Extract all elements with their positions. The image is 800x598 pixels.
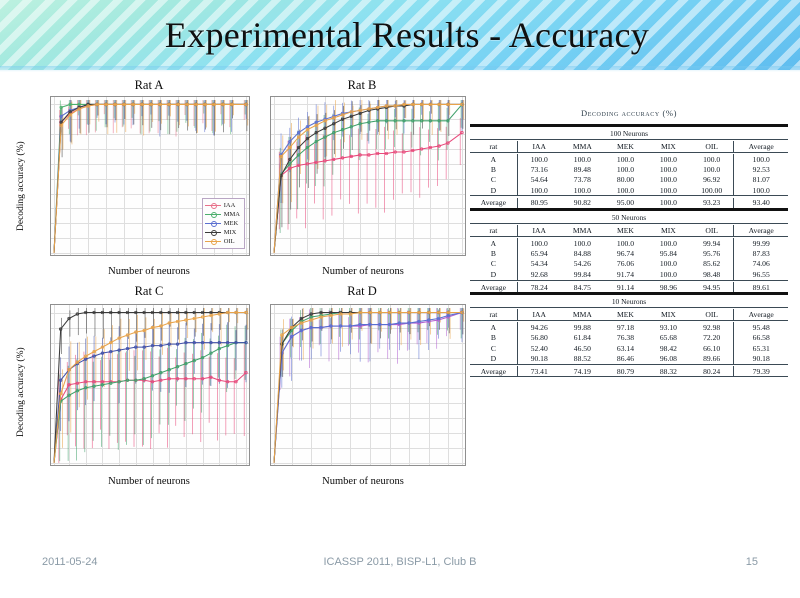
table-cell: 94.95 xyxy=(690,282,734,294)
table-cell: 98.42 xyxy=(647,343,690,353)
table-cell: 74.19 xyxy=(561,366,604,377)
legend-label: MIX xyxy=(224,229,237,237)
group-label: 50 Neurons xyxy=(470,213,788,224)
column-header: MEK xyxy=(604,309,647,320)
table-cell: 100.0 xyxy=(647,185,690,196)
table-group-header: 100 Neurons xyxy=(470,128,788,139)
table-cell: 100.0 xyxy=(647,198,690,210)
plot-area-rat-c: 0102030405060708090100110203040506070809… xyxy=(50,304,250,466)
chart-ylabel-rat-c: Decoding accuracy (%) xyxy=(14,322,28,462)
table-cell: 100.0 xyxy=(647,164,690,174)
legend-swatch-icon xyxy=(205,229,221,236)
table-cell: 65.31 xyxy=(734,343,788,353)
table-header-row: ratIAAMMAMEKMIXOILAverage xyxy=(470,141,788,152)
table-cell: 63.14 xyxy=(604,343,647,353)
table-cell: 54.64 xyxy=(517,175,560,185)
table-cell: 80.00 xyxy=(604,175,647,185)
chart-ylabel-rat-a: Decoding accuracy (%) xyxy=(14,116,28,256)
table-caption: Decoding accuracy (%) xyxy=(470,108,788,118)
table-cell: 54.26 xyxy=(561,259,604,269)
table-cell: 88.32 xyxy=(647,366,690,377)
table-cell: 100.00 xyxy=(690,185,734,196)
table-row: B73.1689.48100.0100.0100.092.53 xyxy=(470,164,788,174)
table-cell: 93.23 xyxy=(690,198,734,210)
column-header: Average xyxy=(734,225,788,236)
table-average-row: Average73.4174.1980.7988.3280.2479.39 xyxy=(470,366,788,377)
table-cell: 76.38 xyxy=(604,333,647,343)
error-bars xyxy=(283,100,464,203)
column-header: MEK xyxy=(604,141,647,152)
chart-title-rat-b: Rat B xyxy=(256,78,468,93)
table-cell: 100.0 xyxy=(517,238,560,248)
table-cell: 100.0 xyxy=(604,154,647,164)
table-cell: 73.78 xyxy=(561,175,604,185)
table-cell: 99.88 xyxy=(561,322,604,332)
chart-xlabel-rat-a: Number of neurons xyxy=(16,266,256,277)
table-cell: 98.48 xyxy=(690,269,734,280)
legend-swatch-icon xyxy=(205,238,221,245)
table-cell: 93.40 xyxy=(734,198,788,210)
column-header: MMA xyxy=(561,225,604,236)
table-cell: 66.58 xyxy=(734,333,788,343)
chart-xlabel-rat-b: Number of neurons xyxy=(256,266,468,277)
charts-region: Rat A Decoding accuracy (%) 010203040506… xyxy=(16,78,468,498)
legend-item-mma: MMA xyxy=(205,210,240,219)
table-cell: 100.0 xyxy=(647,175,690,185)
column-header: IAA xyxy=(517,225,560,236)
table-cell: 46.50 xyxy=(561,343,604,353)
table-cell: D xyxy=(470,269,517,280)
table-average-row: Average80.9590.8295.00100.093.2393.40 xyxy=(470,198,788,210)
page-title: Experimental Results - Accuracy xyxy=(0,0,800,70)
column-header: Average xyxy=(734,141,788,152)
chart-rat-b: Rat B 0102030405060708090100110203040506… xyxy=(256,78,468,284)
table-cell: 85.62 xyxy=(690,259,734,269)
legend-item-oil: OIL xyxy=(205,237,240,246)
table-row: C54.3454.2676.06100.085.6274.06 xyxy=(470,259,788,269)
table-header-row: ratIAAMMAMEKMIXOILAverage xyxy=(470,309,788,320)
table-cell: 81.07 xyxy=(734,175,788,185)
table-cell: 89.61 xyxy=(734,282,788,294)
chart-title-rat-d: Rat D xyxy=(256,284,468,299)
table-cell: 52.40 xyxy=(517,343,560,353)
plot-svg xyxy=(51,305,249,465)
table-cell: 91.74 xyxy=(604,269,647,280)
table-cell: 100.0 xyxy=(517,154,560,164)
table-cell: 92.53 xyxy=(734,164,788,174)
table-cell: 100.0 xyxy=(604,238,647,248)
table-cell: 90.82 xyxy=(561,198,604,210)
legend-item-iaa: IAA xyxy=(205,201,240,210)
chart-rat-c: Rat C Decoding accuracy (%) 010203040506… xyxy=(16,284,256,496)
table-cell: 80.24 xyxy=(690,366,734,377)
column-header: IAA xyxy=(517,309,560,320)
legend-item-mix: MIX xyxy=(205,228,240,237)
table-cell: A xyxy=(470,238,517,248)
table-cell: 88.52 xyxy=(561,353,604,364)
table-header-row: ratIAAMMAMEKMIXOILAverage xyxy=(470,225,788,236)
table-group-header: 50 Neurons xyxy=(470,213,788,224)
table-cell: 99.84 xyxy=(561,269,604,280)
column-header: OIL xyxy=(690,309,734,320)
table-cell: 86.46 xyxy=(604,353,647,364)
table-cell: 100.0 xyxy=(690,154,734,164)
plot-area-rat-d: 0102030405060708090100110203040506070809… xyxy=(270,304,466,466)
table-row: D90.1888.5286.4696.0889.6690.18 xyxy=(470,353,788,364)
plot-svg xyxy=(271,97,465,255)
table-cell: A xyxy=(470,154,517,164)
table-row: C52.4046.5063.1498.4266.1065.31 xyxy=(470,343,788,353)
table-cell: 92.68 xyxy=(517,269,560,280)
chart-xlabel-rat-c: Number of neurons xyxy=(16,476,256,487)
table-cell: 90.18 xyxy=(734,353,788,364)
chart-title-rat-a: Rat A xyxy=(16,78,256,93)
legend-swatch-icon xyxy=(205,211,221,218)
column-header: rat xyxy=(470,141,517,152)
table-cell: 100.0 xyxy=(561,185,604,196)
banner-divider xyxy=(0,66,800,72)
table-cell: 100.0 xyxy=(647,269,690,280)
table-cell: 65.68 xyxy=(647,333,690,343)
table-cell: 95.76 xyxy=(690,248,734,258)
table-row: D92.6899.8491.74100.098.4896.55 xyxy=(470,269,788,280)
legend-label: OIL xyxy=(224,238,235,246)
table-cell: B xyxy=(470,248,517,258)
table-cell: 84.75 xyxy=(561,282,604,294)
table-cell: 100.0 xyxy=(690,164,734,174)
legend-swatch-icon xyxy=(205,202,221,209)
table-row: A100.0100.0100.0100.0100.0100.0 xyxy=(470,154,788,164)
decoding-accuracy-table: 100 NeuronsratIAAMMAMEKMIXOILAverageA100… xyxy=(470,124,788,379)
column-header: MMA xyxy=(561,309,604,320)
table-cell: 73.16 xyxy=(517,164,560,174)
table-cell: 92.98 xyxy=(690,322,734,332)
column-header: MIX xyxy=(647,309,690,320)
table-cell: C xyxy=(470,175,517,185)
group-label: 10 Neurons xyxy=(470,297,788,308)
chart-legend: IAAMMAMEKMIXOIL xyxy=(202,198,245,249)
error-bars xyxy=(63,100,248,150)
table-cell: 100.0 xyxy=(604,164,647,174)
table-cell: 79.39 xyxy=(734,366,788,377)
chart-xlabel-rat-d: Number of neurons xyxy=(256,476,468,487)
table-cell: C xyxy=(470,259,517,269)
table-cell: 99.94 xyxy=(690,238,734,248)
table-rule xyxy=(470,377,788,379)
table-cell: 93.10 xyxy=(647,322,690,332)
table-cell: 87.83 xyxy=(734,248,788,258)
chart-rat-d: Rat D 0102030405060708090100110203040506… xyxy=(256,284,468,496)
table-cell: 91.14 xyxy=(604,282,647,294)
table-cell: 54.34 xyxy=(517,259,560,269)
table-cell: 100.0 xyxy=(561,238,604,248)
table-cell: 100.0 xyxy=(561,154,604,164)
legend-label: MEK xyxy=(224,220,238,228)
column-header: MIX xyxy=(647,141,690,152)
slide-footer: 2011-05-24 ICASSP 2011, BISP-L1, Club B … xyxy=(0,556,800,580)
chart-title-rat-c: Rat C xyxy=(16,284,256,299)
table-cell: 61.84 xyxy=(561,333,604,343)
table-cell: Average xyxy=(470,198,517,210)
table-cell: 56.80 xyxy=(517,333,560,343)
table-cell: Average xyxy=(470,366,517,377)
legend-swatch-icon xyxy=(205,220,221,227)
plot-area-rat-a: 0102030405060708090100110203040506070809… xyxy=(50,96,250,256)
table-cell: 100.0 xyxy=(647,154,690,164)
table-cell: A xyxy=(470,322,517,332)
table-cell: 96.08 xyxy=(647,353,690,364)
table-cell: 66.10 xyxy=(690,343,734,353)
table-cell: C xyxy=(470,343,517,353)
table-group-header: 10 Neurons xyxy=(470,297,788,308)
table-cell: 100.0 xyxy=(647,259,690,269)
chart-rat-a: Rat A Decoding accuracy (%) 010203040506… xyxy=(16,78,256,284)
table-row: B65.9484.8896.7495.8495.7687.83 xyxy=(470,248,788,258)
table-cell: D xyxy=(470,353,517,364)
table-cell: 95.00 xyxy=(604,198,647,210)
table-body: 100 NeuronsratIAAMMAMEKMIXOILAverageA100… xyxy=(470,126,788,379)
table-cell: 65.94 xyxy=(517,248,560,258)
decoding-accuracy-table-panel: Decoding accuracy (%) 100 NeuronsratIAAM… xyxy=(470,108,788,379)
footer-conference: ICASSP 2011, BISP-L1, Club B xyxy=(0,556,800,568)
table-cell: 96.74 xyxy=(604,248,647,258)
table-cell: 100.0 xyxy=(604,185,647,196)
column-header: IAA xyxy=(517,141,560,152)
table-cell: 80.95 xyxy=(517,198,560,210)
table-cell: 98.96 xyxy=(647,282,690,294)
slide-title-banner: Experimental Results - Accuracy xyxy=(0,0,800,70)
table-cell: 96.92 xyxy=(690,175,734,185)
table-cell: 89.48 xyxy=(561,164,604,174)
table-cell: 95.48 xyxy=(734,322,788,332)
series-line-iaa xyxy=(274,133,462,253)
column-header: OIL xyxy=(690,141,734,152)
footer-page-number: 15 xyxy=(746,556,758,568)
column-header: MEK xyxy=(604,225,647,236)
plot-area-rat-b: 0102030405060708090100110203040506070809… xyxy=(270,96,466,256)
table-cell: 72.20 xyxy=(690,333,734,343)
table-cell: Average xyxy=(470,282,517,294)
table-row: D100.0100.0100.0100.0100.00100.0 xyxy=(470,185,788,196)
table-cell: 84.88 xyxy=(561,248,604,258)
table-cell: D xyxy=(470,185,517,196)
column-header: MIX xyxy=(647,225,690,236)
table-cell: 74.06 xyxy=(734,259,788,269)
table-cell: 95.84 xyxy=(647,248,690,258)
table-row: A100.0100.0100.0100.099.9499.99 xyxy=(470,238,788,248)
table-cell: B xyxy=(470,164,517,174)
column-header: OIL xyxy=(690,225,734,236)
column-header: MMA xyxy=(561,141,604,152)
table-cell: 100.0 xyxy=(734,154,788,164)
legend-label: IAA xyxy=(224,202,236,210)
table-row: B56.8061.8476.3865.6872.2066.58 xyxy=(470,333,788,343)
table-cell: 94.26 xyxy=(517,322,560,332)
table-cell: 73.41 xyxy=(517,366,560,377)
table-cell: 99.99 xyxy=(734,238,788,248)
table-average-row: Average78.2484.7591.1498.9694.9589.61 xyxy=(470,282,788,294)
group-label: 100 Neurons xyxy=(470,128,788,139)
table-cell: 100.0 xyxy=(647,238,690,248)
table-cell: 97.18 xyxy=(604,322,647,332)
plot-svg xyxy=(271,305,465,465)
table-cell: 80.79 xyxy=(604,366,647,377)
column-header: rat xyxy=(470,309,517,320)
table-cell: 100.0 xyxy=(517,185,560,196)
table-row: C54.6473.7880.00100.096.9281.07 xyxy=(470,175,788,185)
legend-label: MMA xyxy=(224,211,240,219)
table-cell: 90.18 xyxy=(517,353,560,364)
table-cell: 100.0 xyxy=(734,185,788,196)
table-cell: 96.55 xyxy=(734,269,788,280)
table-cell: B xyxy=(470,333,517,343)
legend-item-mek: MEK xyxy=(205,219,240,228)
column-header: rat xyxy=(470,225,517,236)
table-cell: 76.06 xyxy=(604,259,647,269)
table-row: A94.2699.8897.1893.1092.9895.48 xyxy=(470,322,788,332)
table-cell: 78.24 xyxy=(517,282,560,294)
column-header: Average xyxy=(734,309,788,320)
table-cell: 89.66 xyxy=(690,353,734,364)
